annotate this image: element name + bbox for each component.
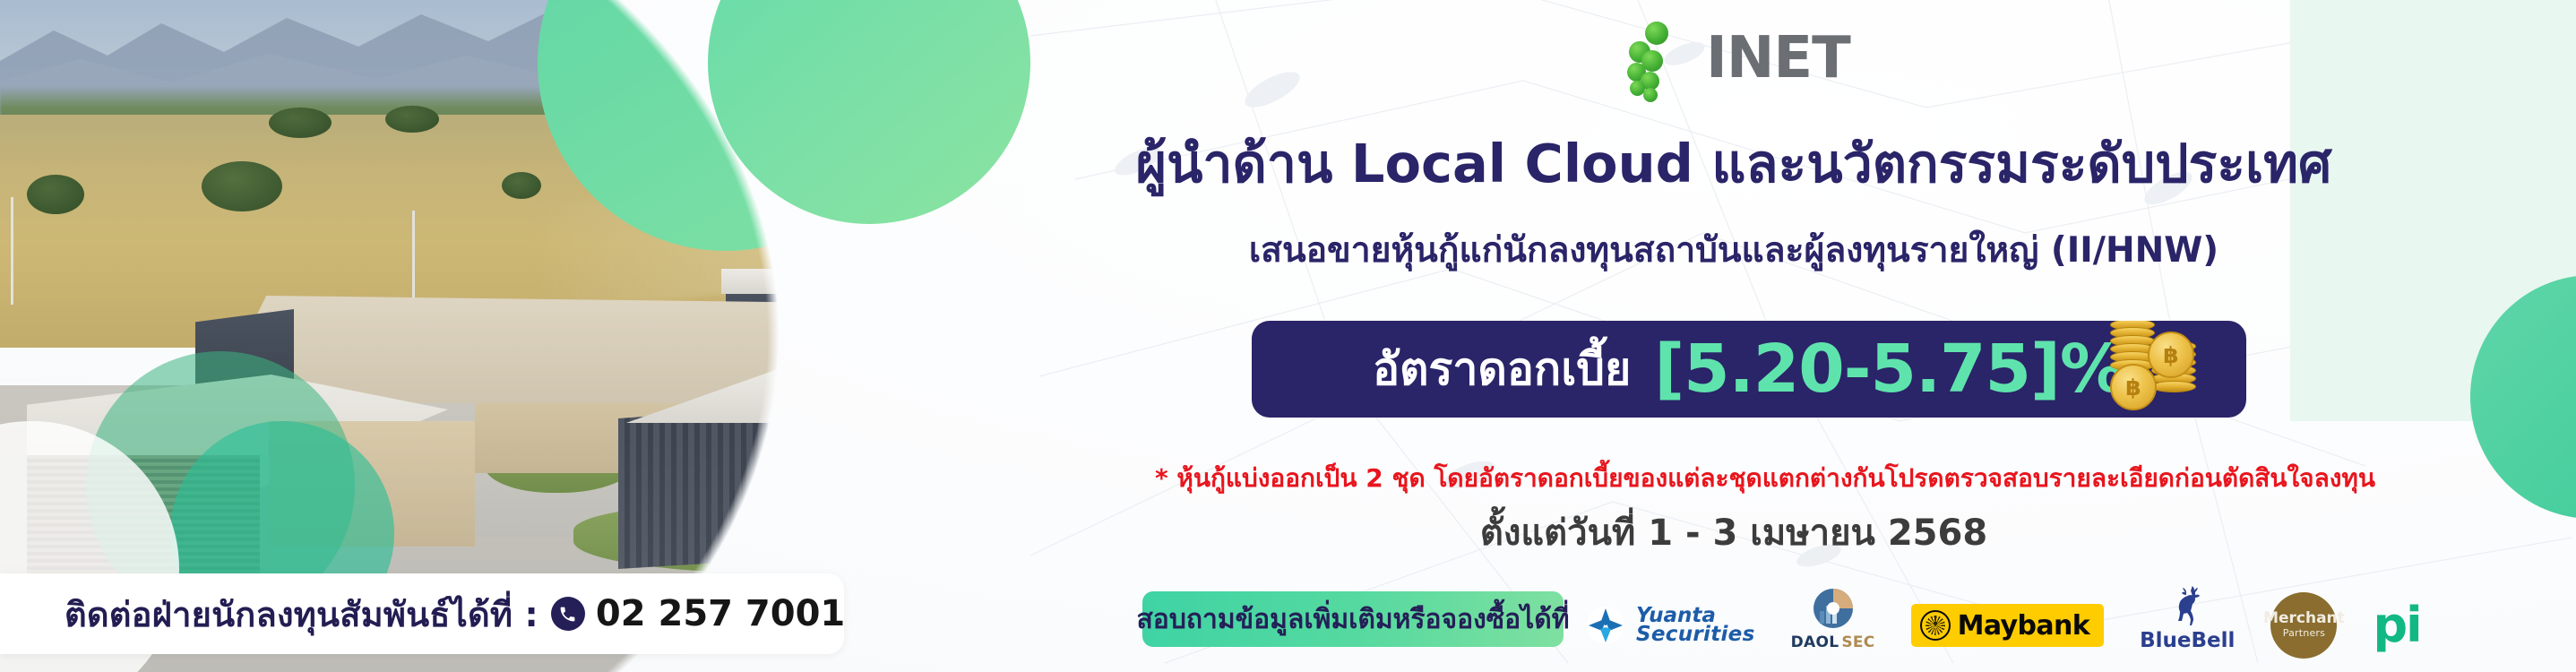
maybank-word: Maybank (1958, 610, 2090, 642)
interest-rate-value: [5.20-5.75]% (1654, 336, 2125, 402)
investor-relations-contact-box: ติดต่อฝ่ายนักลงทุนสัมพันธ์ได้ที่ : 02 25… (0, 573, 844, 654)
pi-logo-icon: pi (2373, 606, 2420, 644)
banner-content: INET ผู้นำด้าน Local Cloud และนวัตกรรมระ… (1030, 0, 2576, 672)
interest-rate-box: อัตราดอกเบี้ย [5.20-5.75]% (1252, 321, 2246, 418)
inet-dots-icon (1622, 20, 1697, 97)
merchant-circle-icon: Merchant Partners (2270, 592, 2337, 659)
partner-logo-daol-sec[interactable]: DAOLSEC (1791, 586, 1875, 665)
bottom-row: สอบถามข้อมูลเพิ่มเติมหรือจองซื้อได้ที่ Y… (1030, 581, 2576, 670)
gold-coins-icon: ฿ ฿ (2105, 321, 2230, 418)
maybank-tiger-icon (1920, 610, 1951, 641)
daol-word: DAOL (1791, 633, 1839, 651)
partner-logo-maybank[interactable]: Maybank (1911, 586, 2105, 665)
offering-dates: ตั้งแต่วันที่ 1 - 3 เมษายน 2568 (1030, 504, 2437, 561)
interest-rate-label: อัตราดอกเบี้ย (1373, 347, 1631, 392)
inet-wordmark: INET (1706, 30, 1850, 87)
inquire-or-subscribe-button[interactable]: สอบถามข้อมูลเพิ่มเติมหรือจองซื้อได้ที่ (1142, 591, 1564, 647)
contact-phone-number: 02 257 7001 (596, 593, 845, 634)
bluebell-deer-icon (2167, 586, 2208, 627)
partner-logo-merchant-partners[interactable]: Merchant Partners (2270, 586, 2337, 665)
yuanta-star-icon (1586, 606, 1625, 645)
partner-logo-yuanta[interactable]: Yuanta Securities (1586, 586, 1755, 665)
daol-circle-icon (1811, 586, 1856, 631)
inet-bond-offering-banner: ติดต่อฝ่ายนักลงทุนสัมพันธ์ได้ที่ : 02 25… (0, 0, 2576, 672)
page-subtitle: เสนอขายหุ้นกู้แก่นักลงทุนสถาบันและผู้ลงท… (1030, 222, 2437, 278)
contact-label: ติดต่อฝ่ายนักลงทุนสัมพันธ์ได้ที่ : (65, 587, 538, 642)
partner-logo-bluebell[interactable]: BlueBell (2140, 586, 2235, 665)
partner-logo-pi[interactable]: pi (2373, 586, 2420, 665)
disclaimer-note: * หุ้นกู้แบ่งออกเป็น 2 ชุด โดยอัตราดอกเบ… (1030, 459, 2500, 498)
phone-icon (551, 597, 585, 631)
bluebell-word: BlueBell (2140, 629, 2235, 652)
merchant-line2: Partners (2283, 626, 2325, 640)
inet-logo: INET (1622, 20, 1850, 97)
partner-logos: Yuanta Securities DAOLSEC (1586, 581, 2572, 670)
daol-sec-word: SEC (1841, 633, 1874, 651)
merchant-line1: Merchant (2263, 611, 2345, 626)
page-title: ผู้นำด้าน Local Cloud และนวัตกรรมระดับปร… (1030, 134, 2437, 194)
yuanta-line2: Securities (1636, 625, 1755, 644)
